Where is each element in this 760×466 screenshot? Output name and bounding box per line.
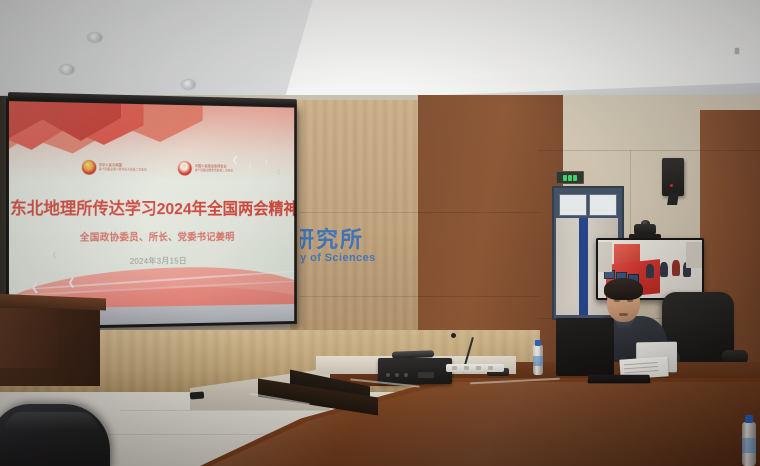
microphone-head: [451, 333, 456, 338]
foreground-chair-highlight: [6, 412, 98, 430]
presentation-slide: ❮ ❮ ❮ ❮ ★ 中华人民共和国 第十四届全国人民代表大会第二次会议: [9, 101, 294, 327]
institute-wall-sign: 研究所 my of Sciences: [300, 222, 420, 274]
av-display-label: [418, 372, 434, 378]
emergency-exit-sign: [556, 171, 584, 184]
dove-icon: ❮: [67, 278, 75, 288]
av-receiver-box[interactable]: [378, 358, 452, 384]
phone-on-table[interactable]: [190, 392, 204, 400]
sprinkler-head: [735, 48, 739, 54]
power-socket[interactable]: [488, 366, 493, 370]
water-bottle[interactable]: [533, 345, 543, 375]
power-socket[interactable]: [452, 366, 457, 370]
conference-room-photo: 研究所 my of Sciences ❮ ❮ ❮: [0, 0, 760, 466]
exit-sign-glyph: [563, 175, 567, 181]
power-socket[interactable]: [476, 366, 481, 370]
ceiling-spotlight: [182, 80, 195, 89]
wall-speaker: [662, 158, 684, 196]
av-dial[interactable]: [386, 373, 390, 377]
exit-sign-glyph: [568, 175, 572, 181]
door-blue-stripe: [579, 218, 588, 315]
npc-emblem-group: ★ 中华人民共和国 第十四届全国人民代表大会第二次会议: [82, 160, 147, 175]
npc-emblem-text: 中华人民共和国 第十四届全国人民代表大会第二次会议: [99, 163, 147, 172]
dove-icon: ❮: [52, 253, 57, 259]
av-dial[interactable]: [404, 373, 408, 377]
slide-subtitle: 全国政协委员、所长、党委书记姜明: [9, 228, 294, 243]
bottle-label: [742, 438, 756, 453]
paper-text-line: [624, 366, 658, 369]
emblem-star-icon: ★: [85, 163, 89, 168]
slide-main-title: 东北地理所传达学习2024年全国两会精神: [9, 194, 294, 219]
paper-text-line: [624, 370, 658, 373]
bottle-cap: [535, 340, 541, 346]
door-window-left: [559, 194, 587, 216]
power-socket[interactable]: [464, 366, 469, 370]
power-strip[interactable]: [446, 364, 504, 372]
ceiling-spotlight: [88, 33, 102, 42]
emblem-star-icon: ★: [182, 164, 186, 169]
wall-seam: [538, 150, 760, 151]
presenter-hair: [604, 278, 643, 300]
bottle-label: [533, 356, 543, 366]
presenter-mouth: [619, 313, 628, 316]
computer-monitor: [556, 318, 614, 376]
speaker-led-indicator: [670, 184, 673, 187]
av-dial[interactable]: [395, 373, 399, 377]
wall-sign-chinese: 研究所: [300, 222, 364, 254]
npc-line2: 第十四届全国人民代表大会第二次会议: [99, 168, 147, 172]
wall-seam: [300, 212, 540, 213]
bottle-cap: [745, 415, 753, 423]
cppcc-line2: 第十四届全国委员会第二次会议: [195, 169, 233, 173]
wall-sign-english: my of Sciences: [300, 252, 376, 264]
speaker-bracket: [667, 193, 679, 205]
paper-text-line: [624, 362, 658, 365]
keyboard[interactable]: [587, 375, 650, 384]
ceiling-spotlight: [60, 65, 74, 74]
slide-emblems-row: ★ 中华人民共和国 第十四届全国人民代表大会第二次会议 ★ 中国人民政治协商会议: [9, 159, 294, 177]
exit-sign-glyph: [573, 175, 577, 181]
national-emblem-icon: ★: [82, 160, 96, 175]
podium-front-face: [0, 308, 58, 368]
cppcc-emblem-group: ★ 中国人民政治协商会议 第十四届全国委员会第二次会议: [178, 161, 233, 176]
water-bottle-foreground[interactable]: [742, 422, 756, 466]
wall-seam: [300, 296, 540, 297]
dove-icon: ❮: [31, 283, 40, 294]
cppcc-emblem-icon: ★: [178, 161, 192, 176]
cppcc-emblem-text: 中国人民政治协商会议 第十四届全国委员会第二次会议: [195, 164, 233, 173]
door-window-right: [589, 194, 617, 216]
